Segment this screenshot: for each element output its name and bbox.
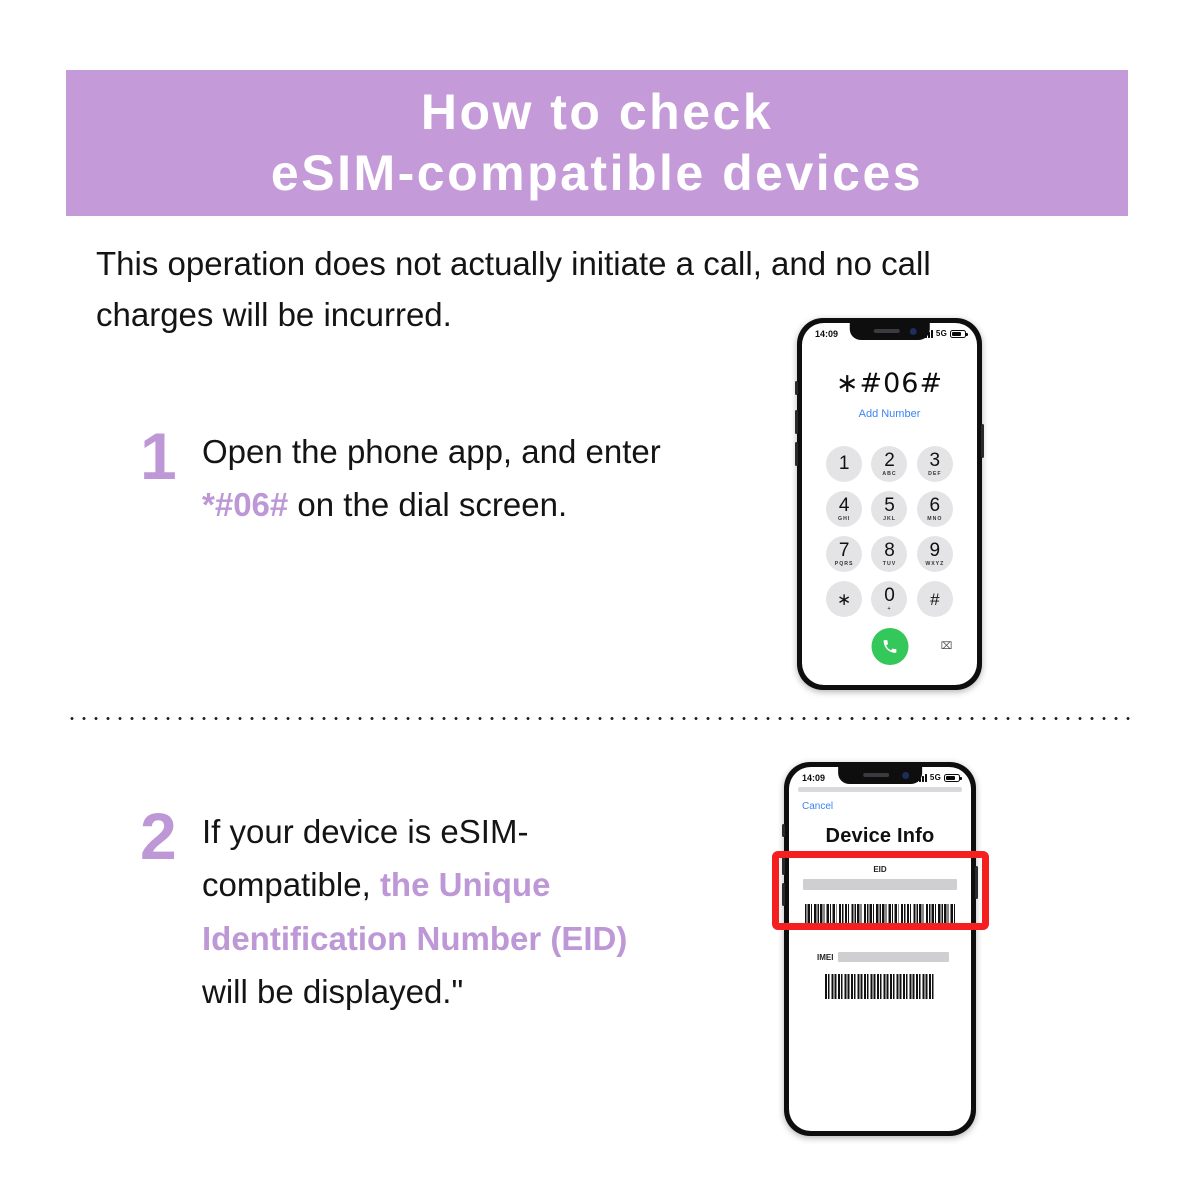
keypad-key-8-letters: TUV <box>883 562 896 567</box>
keypad-key-4-letters: GHI <box>838 517 850 522</box>
phone-screen-device-info: 14:09 5G Cancel Device Info EID IMEI <box>789 767 971 1131</box>
keypad-key-9-letters: WXYZ <box>925 562 944 567</box>
header-title-line-2: eSIM-compatible devices <box>271 143 923 204</box>
imei-label: IMEI <box>817 953 833 962</box>
keypad-key-9-digit: 9 <box>930 541 941 560</box>
signal-bars-icon-2 <box>916 774 927 782</box>
step-1-text: Open the phone app, and enter *#06# on t… <box>202 425 682 532</box>
keypad-key-6-letters: MNO <box>927 517 942 522</box>
keypad-key-3-digit: 3 <box>930 451 941 470</box>
keypad-key-8-digit: 8 <box>884 541 895 560</box>
keypad-key-0[interactable]: 0+ <box>871 581 907 617</box>
status-bar-dialer: 14:09 5G <box>802 323 977 342</box>
phone-handset-icon <box>881 638 898 655</box>
keypad-key-hash[interactable]: # <box>917 581 953 617</box>
battery-icon <box>950 330 966 338</box>
network-type-label: 5G <box>936 329 947 338</box>
keypad-key-4[interactable]: 4GHI <box>826 491 862 527</box>
keypad-key-2-letters: ABC <box>882 472 896 477</box>
keypad-key-star-digit: ∗ <box>837 591 851 608</box>
status-bar-indicators: 5G <box>922 329 966 338</box>
imei-barcode <box>825 974 935 999</box>
phone-volume-up-button <box>795 410 798 434</box>
battery-icon-2 <box>944 774 960 782</box>
keypad-key-7[interactable]: 7PQRS <box>826 536 862 572</box>
step-2-number: 2 <box>140 805 202 1019</box>
step-1-number: 1 <box>140 425 202 532</box>
dialed-number-display: ∗#06# <box>802 368 977 399</box>
phone-mockup-dialer: 14:09 5G ∗#06# Add Number 1 2ABC 3DEF 4G… <box>797 318 982 690</box>
keypad-key-star[interactable]: ∗ <box>826 581 862 617</box>
delete-backspace-icon[interactable]: ⌧ <box>938 639 956 654</box>
phone-volume-up-button-2 <box>782 852 785 875</box>
keypad-key-1[interactable]: 1 <box>826 446 862 482</box>
step-2: 2 If your device is eSIM-compatible, the… <box>140 805 682 1019</box>
keypad-key-7-digit: 7 <box>839 541 850 560</box>
phone-volume-down-button-2 <box>782 883 785 906</box>
phone-mute-switch <box>795 381 798 395</box>
keypad-key-3[interactable]: 3DEF <box>917 446 953 482</box>
eid-label: EID <box>789 865 971 874</box>
imei-value-redacted <box>838 952 949 962</box>
header-title-line-1: How to check <box>421 82 773 143</box>
cancel-button[interactable]: Cancel <box>789 792 971 812</box>
step-2-text: If your device is eSIM-compatible, the U… <box>202 805 682 1019</box>
status-bar-time-2: 14:09 <box>802 773 825 783</box>
phone-screen-dialer: 14:09 5G ∗#06# Add Number 1 2ABC 3DEF 4G… <box>802 323 977 685</box>
infographic-page: How to check eSIM-compatible devices Thi… <box>0 0 1200 1200</box>
signal-bars-icon <box>922 330 933 338</box>
add-number-link[interactable]: Add Number <box>802 408 977 420</box>
phone-volume-down-button <box>795 442 798 466</box>
keypad-key-1-digit: 1 <box>839 454 850 473</box>
keypad-key-3-letters: DEF <box>928 472 941 477</box>
keypad-key-5-digit: 5 <box>884 496 895 515</box>
keypad-key-2-digit: 2 <box>884 451 895 470</box>
phone-mockup-device-info: 14:09 5G Cancel Device Info EID IMEI <box>784 762 976 1136</box>
status-bar-time: 14:09 <box>815 329 838 339</box>
imei-row: IMEI <box>817 952 949 962</box>
phone-mute-switch-2 <box>782 824 785 837</box>
status-bar-device-info: 14:09 5G <box>789 767 971 786</box>
section-divider <box>66 716 1134 721</box>
keypad-key-8[interactable]: 8TUV <box>871 536 907 572</box>
keypad-key-7-letters: PQRS <box>835 562 854 567</box>
status-bar-indicators-2: 5G <box>916 773 960 782</box>
step-1: 1 Open the phone app, and enter *#06# on… <box>140 425 682 532</box>
keypad-key-6-digit: 6 <box>930 496 941 515</box>
keypad-key-2[interactable]: 2ABC <box>871 446 907 482</box>
keypad-key-4-digit: 4 <box>839 496 850 515</box>
keypad-key-9[interactable]: 9WXYZ <box>917 536 953 572</box>
step-1-highlight: *#06# <box>202 486 288 523</box>
device-info-title: Device Info <box>789 825 971 848</box>
keypad-key-5[interactable]: 5JKL <box>871 491 907 527</box>
keypad-key-hash-digit: # <box>930 591 939 608</box>
keypad-key-0-digit: 0 <box>884 586 895 605</box>
eid-value-redacted <box>803 879 957 890</box>
keypad-key-0-letters: + <box>887 607 891 612</box>
keypad-key-6[interactable]: 6MNO <box>917 491 953 527</box>
phone-power-button <box>981 424 984 458</box>
step-1-text-before: Open the phone app, and enter <box>202 433 661 470</box>
dial-keypad[interactable]: 1 2ABC 3DEF 4GHI 5JKL 6MNO 7PQRS 8TUV 9W… <box>822 446 958 617</box>
keypad-key-5-letters: JKL <box>883 517 896 522</box>
network-type-label-2: 5G <box>930 773 941 782</box>
step-1-text-after: on the dial screen. <box>288 486 567 523</box>
step-2-text-after: will be displayed." <box>202 973 463 1010</box>
header-banner: How to check eSIM-compatible devices <box>66 70 1128 216</box>
call-action-row: ⌧ <box>822 628 958 668</box>
phone-power-button-2 <box>975 866 978 899</box>
eid-barcode <box>805 904 955 930</box>
call-button[interactable] <box>871 628 908 665</box>
